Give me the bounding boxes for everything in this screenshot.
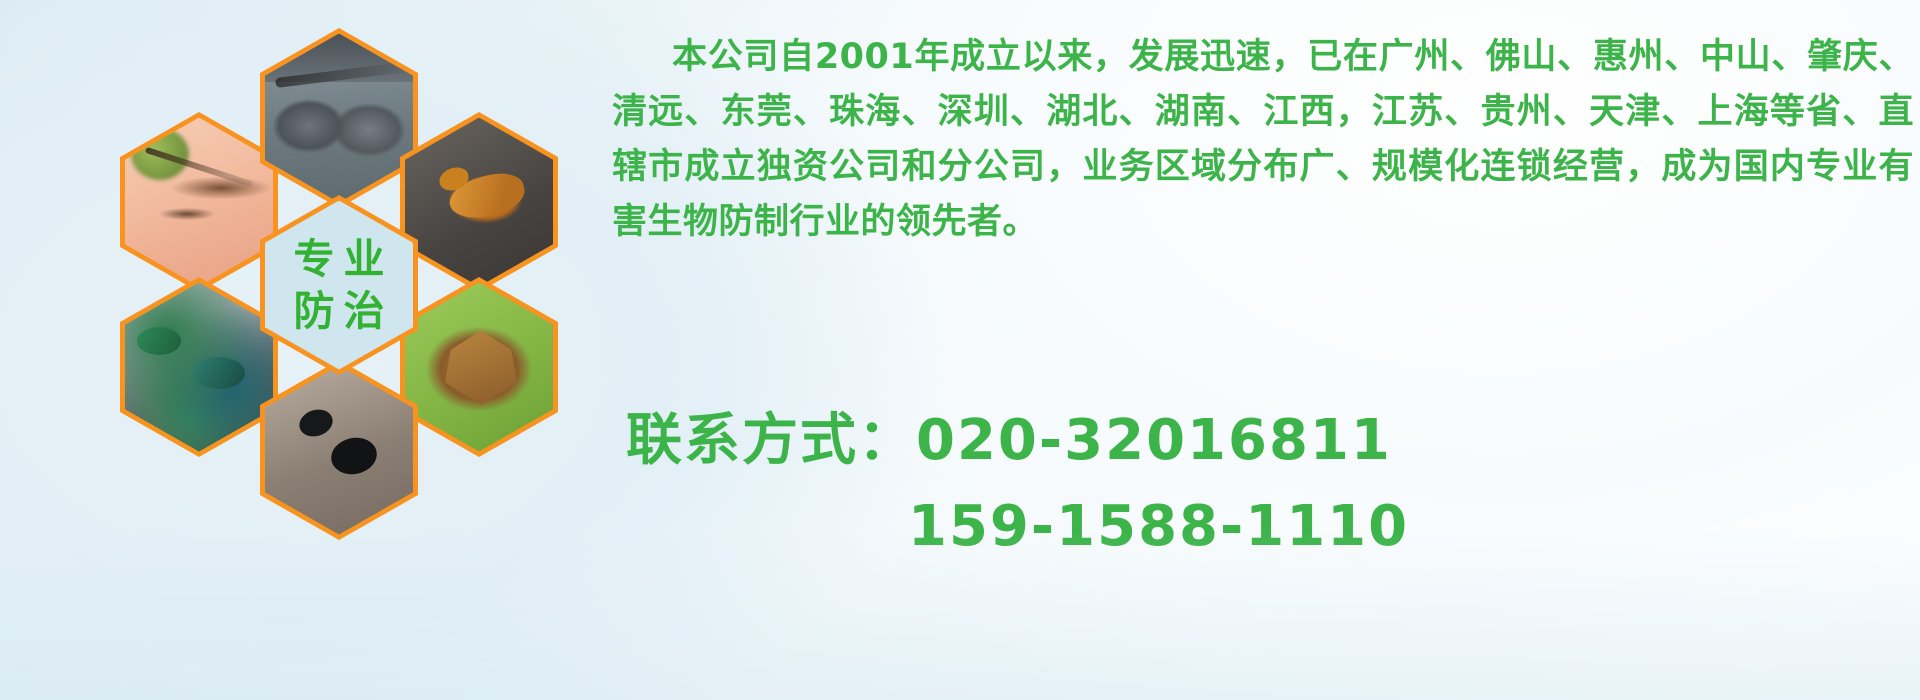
logo-text-line-2: 防治 bbox=[285, 285, 394, 337]
hex-tile-cockroach bbox=[400, 112, 558, 292]
fly-icon bbox=[125, 283, 273, 452]
hex-tile-stinkbug bbox=[400, 277, 558, 457]
cockroach-icon bbox=[405, 118, 553, 287]
hex-tile-ant bbox=[260, 360, 418, 540]
pest-control-banner: 专业 防治 本公司自2001年成立以来，发展迅速，已在广州、佛山、惠州、中山、肇… bbox=[0, 0, 1920, 700]
stinkbug-icon bbox=[405, 283, 553, 452]
hex-tile-rat bbox=[260, 28, 418, 208]
rat-icon bbox=[265, 34, 413, 203]
hex-tile-logo: 专业 防治 bbox=[260, 195, 418, 375]
hexagon-photo-cluster: 专业 防治 bbox=[90, 0, 590, 570]
ant-icon bbox=[265, 366, 413, 535]
contact-phone-secondary: 159-1588-1110 bbox=[612, 484, 1914, 570]
banner-content: 本公司自2001年成立以来，发展迅速，已在广州、佛山、惠州、中山、肇庆、清远、东… bbox=[612, 0, 1920, 700]
company-intro-paragraph: 本公司自2001年成立以来，发展迅速，已在广州、佛山、惠州、中山、肇庆、清远、东… bbox=[612, 30, 1914, 250]
hex-tile-mosquito bbox=[120, 112, 278, 292]
mosquito-icon bbox=[125, 118, 273, 287]
logo-text-line-1: 专业 bbox=[285, 233, 394, 285]
hex-tile-fly bbox=[120, 277, 278, 457]
contact-block: 联系方式：020-32016811 159-1588-1110 bbox=[612, 398, 1914, 570]
contact-phone-primary: 联系方式：020-32016811 bbox=[612, 398, 1914, 484]
